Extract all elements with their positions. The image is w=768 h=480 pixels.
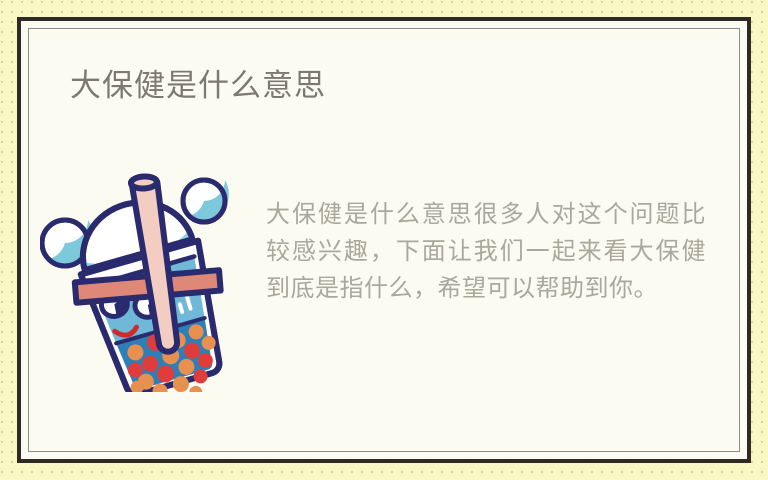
soap-bubble-icon: [183, 180, 229, 222]
body-paragraph: 大保健是什么意思很多人对这个问题比较感兴趣，下面让我们一起来看大保健到底是指什么…: [266, 196, 706, 307]
slide-canvas: 大保健是什么意思: [0, 0, 768, 480]
page-title: 大保健是什么意思: [70, 66, 326, 106]
bubble-tea-cup-illustration: [40, 170, 262, 392]
